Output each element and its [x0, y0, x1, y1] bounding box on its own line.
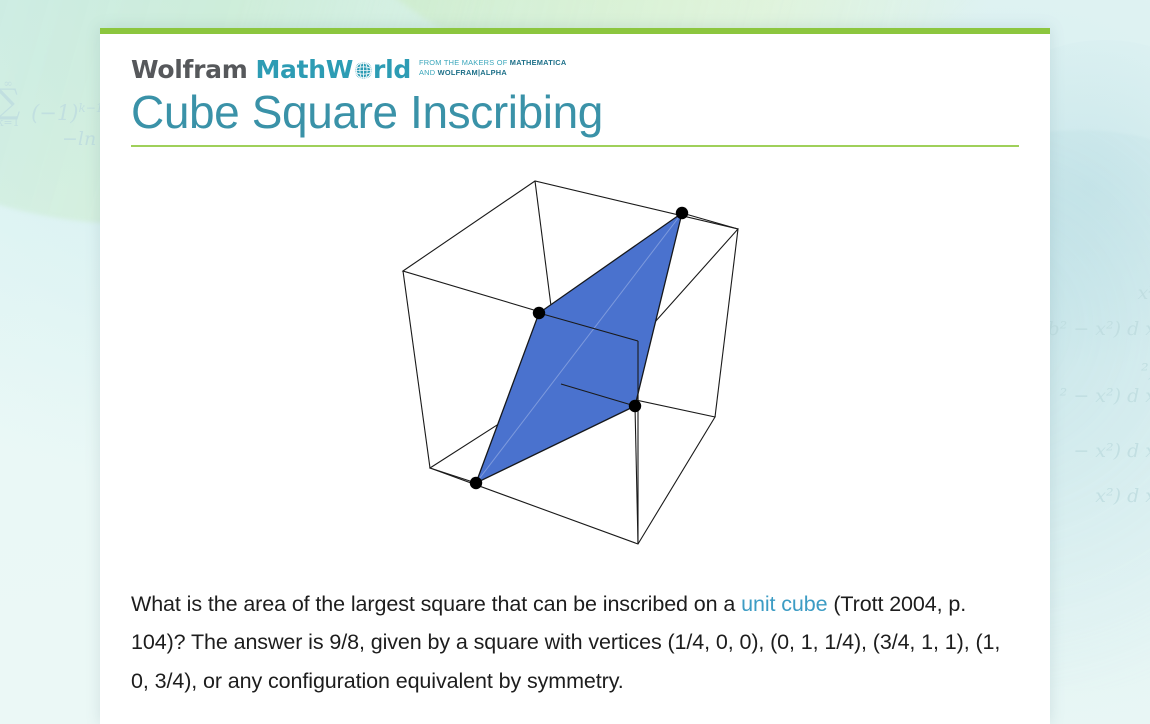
content-card: Wolfram MathW rld [100, 28, 1050, 724]
sum-sigma: ∑ [0, 89, 20, 117]
logo-tagline: FROM THE MAKERS OF MATHEMATICA AND WOLFR… [419, 58, 567, 82]
body-text-part-1: What is the area of the largest square t… [131, 592, 741, 616]
page-title: Cube Square Inscribing [131, 86, 1019, 139]
vertex-dot-2 [533, 307, 545, 319]
vertex-dot-1 [676, 207, 688, 219]
tagline-1-bold: MATHEMATICA [510, 58, 567, 67]
tagline-1-plain: FROM THE MAKERS OF [419, 58, 510, 67]
vertex-dot-4 [470, 477, 482, 489]
logo-rld-text: rld [373, 57, 411, 82]
figure-container [131, 157, 1019, 563]
vertex-dot-3 [629, 400, 641, 412]
site-logo[interactable]: Wolfram MathW rld [131, 52, 1019, 82]
tagline-2-plain: AND [419, 68, 438, 77]
tagline-line-2: AND WOLFRAM|ALPHA [419, 68, 507, 77]
background-formula-right-5: − x²) d x [1073, 440, 1150, 462]
square-diagonal [476, 213, 682, 483]
sum-lower-limit: k=1 [0, 117, 20, 128]
background-formula-right-1: x² [1138, 282, 1150, 304]
globe-icon [354, 59, 373, 78]
background-formula-right-4: ² − x²) d x [1060, 385, 1150, 407]
title-divider [131, 145, 1019, 147]
background-formula-right-2: (b² − x²) d x [1040, 318, 1150, 340]
logo-mathworld-text: MathW rld [255, 57, 410, 82]
tagline-line-1: FROM THE MAKERS OF MATHEMATICA [419, 58, 567, 67]
logo-wolfram-text: Wolfram [131, 57, 247, 82]
cube-with-inscribed-square [375, 163, 775, 563]
background-formula-left: ∞ ∑ k=1 (−1)k−1 [0, 78, 103, 135]
article-body-paragraph: What is the area of the largest square t… [131, 585, 1019, 701]
summation-symbol: ∞ ∑ k=1 [0, 95, 31, 135]
logo-mathw-text: MathW [255, 57, 353, 82]
background-formula-ln: −ln [62, 128, 96, 150]
background-formula-right-3: ²) [1141, 360, 1150, 382]
unit-cube-link[interactable]: unit cube [741, 592, 827, 616]
tagline-2-bold: WOLFRAM|ALPHA [438, 68, 507, 77]
background-formula-right-6: x²) d x [1095, 485, 1150, 507]
sum-term: (−1) [31, 101, 78, 125]
